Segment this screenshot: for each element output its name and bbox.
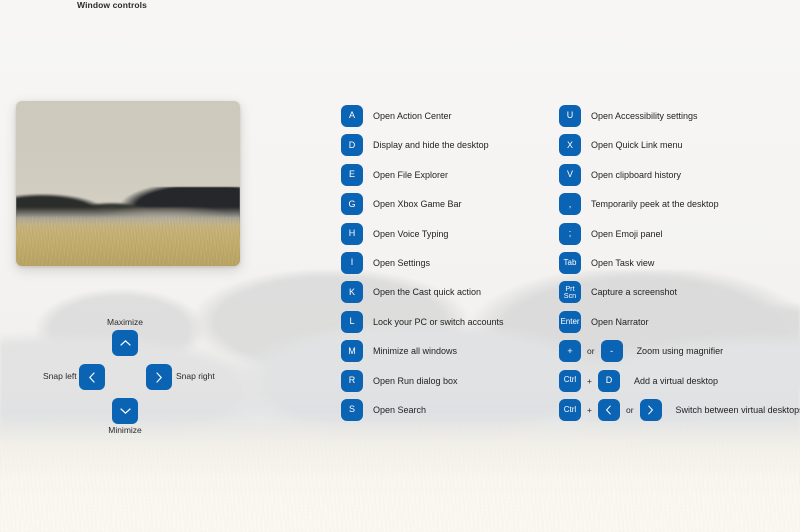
chevron-up-icon	[120, 339, 131, 347]
shortcut-description: Open File Explorer	[373, 164, 448, 186]
key-combination: G	[341, 193, 363, 215]
arrow-right-key[interactable]	[640, 399, 662, 421]
shortcut-description: Open Accessibility settings	[591, 105, 698, 127]
shortcut-description: Open Action Center	[373, 105, 452, 127]
shortcut-list-right: UOpen Accessibility settingsXOpen Quick …	[559, 105, 800, 428]
key-combination: Enter	[559, 311, 581, 333]
key-ctrl[interactable]: Ctrl	[559, 370, 581, 392]
shortcut-description: Add a virtual desktop	[634, 370, 718, 392]
key-enter[interactable]: Enter	[559, 311, 581, 333]
shortcut-row: ROpen Run dialog box	[341, 370, 504, 399]
key-combination: X	[559, 134, 581, 156]
shortcut-description: Open Settings	[373, 252, 430, 274]
key-h[interactable]: H	[341, 223, 363, 245]
shortcut-description: Display and hide the desktop	[373, 134, 489, 156]
arrow-left-key[interactable]	[79, 364, 105, 390]
shortcut-row: HOpen Voice Typing	[341, 223, 504, 252]
key-combination: K	[341, 281, 363, 303]
shortcut-row: GOpen Xbox Game Bar	[341, 193, 504, 222]
shortcut-row: KOpen the Cast quick action	[341, 281, 504, 310]
shortcut-description: Open Search	[373, 399, 426, 421]
key-combination: Tab	[559, 252, 581, 274]
shortcut-row: XOpen Quick Link menu	[559, 134, 800, 163]
chevron-right-icon	[647, 405, 654, 415]
key-combination: R	[341, 370, 363, 392]
or-joiner: or	[620, 405, 640, 415]
key-combination: ,	[559, 193, 581, 215]
preview-grass-texture	[16, 217, 240, 267]
plus-joiner: +	[581, 376, 598, 386]
shortcut-row: ;Open Emoji panel	[559, 223, 800, 252]
shortcut-description: Switch between virtual desktops	[676, 399, 800, 421]
arrow-right-key[interactable]	[146, 364, 172, 390]
window-controls-title: Window controls	[0, 0, 224, 10]
desktop-preview-thumbnail	[16, 101, 240, 266]
key-a[interactable]: A	[341, 105, 363, 127]
key-combination: S	[341, 399, 363, 421]
key-combination: D	[341, 134, 363, 156]
shortcut-row: EOpen File Explorer	[341, 164, 504, 193]
key-combination: I	[341, 252, 363, 274]
key-,[interactable]: ,	[559, 193, 581, 215]
key-prt-scn[interactable]: PrtScn	[559, 281, 581, 303]
shortcut-description: Open Quick Link menu	[591, 134, 683, 156]
shortcut-row: PrtScnCapture a screenshot	[559, 281, 800, 310]
shortcut-row: ,Temporarily peek at the desktop	[559, 193, 800, 222]
key-tab[interactable]: Tab	[559, 252, 581, 274]
snap-right-label: Snap right	[176, 371, 215, 381]
shortcut-description: Capture a screenshot	[591, 281, 677, 303]
or-joiner: or	[581, 346, 601, 356]
shortcut-row: UOpen Accessibility settings	[559, 105, 800, 134]
minimize-label: Minimize	[0, 425, 250, 435]
shortcuts-overview-screen: Window controls Maximize Minimize Snap l…	[0, 0, 800, 532]
chevron-left-icon	[88, 372, 96, 383]
shortcut-list-left: AOpen Action CenterDDisplay and hide the…	[341, 105, 504, 428]
key-;[interactable]: ;	[559, 223, 581, 245]
key-combination: H	[341, 223, 363, 245]
plus-joiner: +	[581, 405, 598, 415]
key-g[interactable]: G	[341, 193, 363, 215]
key-ctrl[interactable]: Ctrl	[559, 399, 581, 421]
arrow-left-key[interactable]	[598, 399, 620, 421]
key-x[interactable]: X	[559, 134, 581, 156]
key-s[interactable]: S	[341, 399, 363, 421]
arrow-down-key[interactable]	[112, 398, 138, 424]
key-combination: V	[559, 164, 581, 186]
key-d[interactable]: D	[341, 134, 363, 156]
shortcut-description: Open Run dialog box	[373, 370, 458, 392]
key-k[interactable]: K	[341, 281, 363, 303]
shortcut-row: IOpen Settings	[341, 252, 504, 281]
key-u[interactable]: U	[559, 105, 581, 127]
shortcut-description: Temporarily peek at the desktop	[591, 193, 719, 215]
shortcut-description: Open clipboard history	[591, 164, 681, 186]
key-combination: M	[341, 340, 363, 362]
shortcut-row: Ctrl+DAdd a virtual desktop	[559, 370, 800, 399]
shortcut-description: Open the Cast quick action	[373, 281, 481, 303]
chevron-right-icon	[155, 372, 163, 383]
chevron-down-icon	[120, 407, 131, 415]
shortcut-description: Open Task view	[591, 252, 654, 274]
shortcut-row: TabOpen Task view	[559, 252, 800, 281]
shortcut-row: MMinimize all windows	[341, 340, 504, 369]
key-+[interactable]: +	[559, 340, 581, 362]
key-d[interactable]: D	[598, 370, 620, 392]
key-l[interactable]: L	[341, 311, 363, 333]
key-m[interactable]: M	[341, 340, 363, 362]
shortcut-row: LLock your PC or switch accounts	[341, 311, 504, 340]
background-grass-texture	[0, 424, 800, 532]
arrow-up-key[interactable]	[112, 330, 138, 356]
shortcut-description: Open Xbox Game Bar	[373, 193, 462, 215]
shortcut-description: Open Emoji panel	[591, 223, 663, 245]
shortcut-row: Ctrl+orSwitch between virtual desktops	[559, 399, 800, 428]
key-combination: PrtScn	[559, 281, 581, 303]
snap-left-label: Snap left	[43, 371, 77, 381]
shortcut-row: VOpen clipboard history	[559, 164, 800, 193]
key-combination: Ctrl+or	[559, 399, 662, 421]
key-combination: L	[341, 311, 363, 333]
key-e[interactable]: E	[341, 164, 363, 186]
shortcut-description: Minimize all windows	[373, 340, 457, 362]
shortcut-row: +or-Zoom using magnifier	[559, 340, 800, 369]
shortcut-description: Open Narrator	[591, 311, 649, 333]
key-combination: A	[341, 105, 363, 127]
key-v[interactable]: V	[559, 164, 581, 186]
shortcut-row: AOpen Action Center	[341, 105, 504, 134]
key--[interactable]: -	[601, 340, 623, 362]
key-combination: ;	[559, 223, 581, 245]
key-r[interactable]: R	[341, 370, 363, 392]
shortcut-description: Zoom using magnifier	[637, 340, 724, 362]
shortcut-row: DDisplay and hide the desktop	[341, 134, 504, 163]
shortcut-description: Lock your PC or switch accounts	[373, 311, 504, 333]
key-combination: Ctrl+D	[559, 370, 620, 392]
shortcut-row: SOpen Search	[341, 399, 504, 428]
key-combination: +or-	[559, 340, 623, 362]
key-i[interactable]: I	[341, 252, 363, 274]
shortcut-description: Open Voice Typing	[373, 223, 448, 245]
shortcut-row: EnterOpen Narrator	[559, 311, 800, 340]
key-combination: E	[341, 164, 363, 186]
key-combination: U	[559, 105, 581, 127]
chevron-left-icon	[605, 405, 612, 415]
maximize-label: Maximize	[0, 317, 250, 327]
